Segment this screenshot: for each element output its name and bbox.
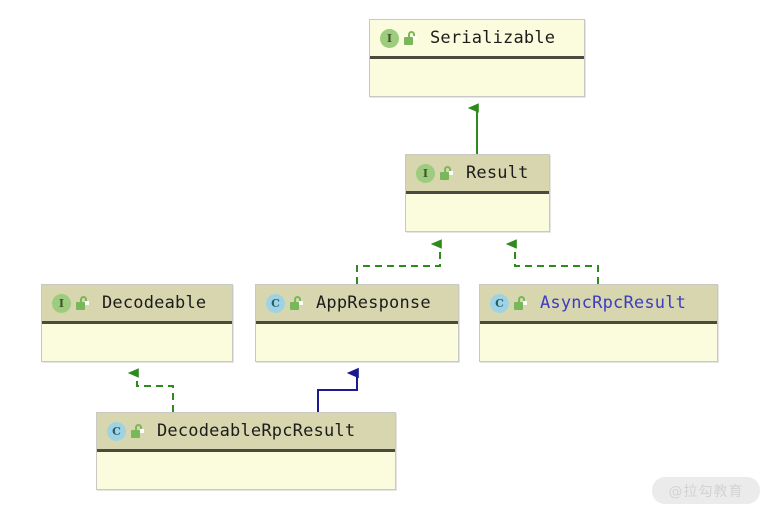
class-node-members: [480, 324, 717, 358]
class-node-members: [256, 324, 458, 358]
class-node-title: DecodeableRpcResult: [157, 421, 355, 441]
unlocked-padlock-icon: [76, 296, 89, 310]
class-node-decodeablerpcresult[interactable]: C DecodeableRpcResult: [96, 412, 396, 490]
class-icon: C: [107, 422, 126, 441]
class-node-members: [370, 59, 584, 93]
unlocked-padlock-icon: [404, 31, 417, 45]
class-node-decodeable[interactable]: I Decodeable: [41, 284, 233, 362]
watermark: @拉勾教育: [652, 477, 760, 504]
class-node-header: C AppResponse: [256, 285, 458, 324]
class-node-title: AppResponse: [316, 293, 431, 313]
unlocked-padlock-icon: [290, 296, 303, 310]
class-node-members: [97, 452, 395, 486]
interface-icon: I: [52, 294, 71, 313]
unlocked-padlock-icon: [514, 296, 527, 310]
class-node-asyncrpcresult[interactable]: C AsyncRpcResult: [479, 284, 718, 362]
class-node-members: [42, 324, 232, 358]
class-node-header: I Serializable: [370, 20, 584, 59]
class-node-header: C DecodeableRpcResult: [97, 413, 395, 452]
interface-icon: I: [416, 164, 435, 183]
edge-decodeablerpcresult-extends-appresponse: [318, 373, 357, 412]
class-node-title: Decodeable: [102, 293, 206, 313]
class-diagram-canvas: I Serializable I Result I Decodeable: [0, 0, 771, 515]
class-node-header: I Decodeable: [42, 285, 232, 324]
class-node-result[interactable]: I Result: [405, 154, 550, 232]
unlocked-padlock-icon: [440, 166, 453, 180]
class-icon: C: [490, 294, 509, 313]
class-icon: C: [266, 294, 285, 313]
class-node-title: Result: [466, 163, 529, 183]
edge-asyncrpcresult-implements-result: [515, 244, 598, 284]
class-node-header: I Result: [406, 155, 549, 194]
class-node-serializable[interactable]: I Serializable: [369, 19, 585, 97]
interface-icon: I: [380, 29, 399, 48]
edge-appresponse-implements-result: [357, 244, 440, 284]
class-node-members: [406, 194, 549, 228]
class-node-appresponse[interactable]: C AppResponse: [255, 284, 459, 362]
class-node-title: AsyncRpcResult: [540, 293, 686, 313]
class-node-header: C AsyncRpcResult: [480, 285, 717, 324]
class-node-title: Serializable: [430, 28, 555, 48]
edge-decodeablerpcresult-implements-decodeable: [137, 373, 173, 412]
unlocked-padlock-icon: [131, 424, 144, 438]
